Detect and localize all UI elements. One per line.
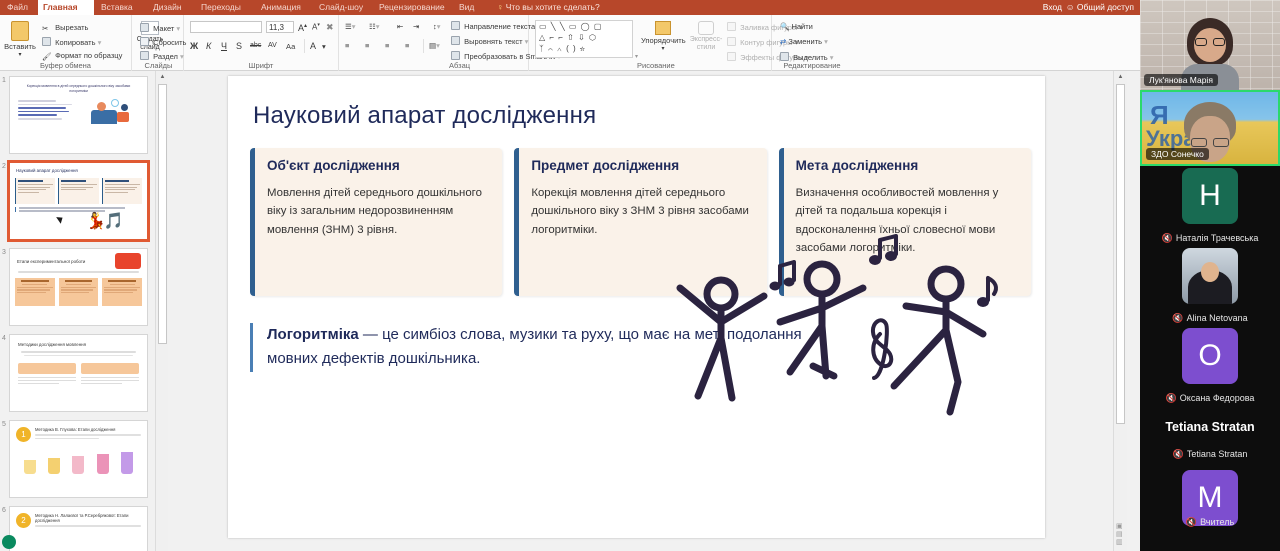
text-shadow-button[interactable]: S	[236, 41, 242, 51]
participant-row: 🔇Вчитель	[1140, 517, 1280, 528]
participant-tile-3[interactable]: Н 🔇Наталія Трачевська	[1140, 166, 1280, 246]
thumbnail-number: 1	[2, 77, 6, 84]
thumbnail-slide-5[interactable]: 5 1 Методика В. Глухова: Етапи досліджен…	[0, 419, 167, 501]
participant-name: Tetiana Stratan	[1187, 449, 1248, 459]
tab-animations[interactable]: Анимация	[256, 0, 308, 15]
shapes-gallery[interactable]: ▭ ╲ ╲ ▭ ◯ ▢ △ ⌐ ⌐ ⇧ ⇩ ⬡ ᛉ ⌒ ∧ ( ) ☆	[535, 20, 633, 58]
scrollbar-bottom-controls[interactable]: ▣▤▥	[1116, 523, 1123, 547]
tab-file[interactable]: Файл	[2, 0, 36, 15]
character-spacing-button[interactable]: AV	[268, 42, 277, 49]
ribbon-tab-bar: Файл Главная Вставка Дизайн Переходы Ани…	[0, 0, 1140, 15]
participant-row: 🔇Alina Netovana	[1140, 313, 1280, 324]
signin-label[interactable]: Вход	[1043, 0, 1062, 15]
thumbnail-quote	[15, 207, 142, 212]
scrollbar-thumb[interactable]	[158, 84, 167, 344]
replace-icon: ⇄	[780, 37, 786, 46]
thumbnail-title: Методики дослідження мовлення	[10, 335, 147, 349]
cut-button[interactable]: ✂ Вырезать	[42, 23, 88, 33]
thumbnail-slide-6[interactable]: 6 2 Методика Н. Лалаєвої та Р.Серебряков…	[0, 505, 167, 551]
justify-button[interactable]: ≡	[405, 41, 409, 50]
ribbon-group-font: 11,3 A▴ A▾ ✖ Ж К Ч S abc AV Аа A ▾ Шрифт	[184, 15, 339, 71]
group-label-slides: Слайды	[133, 61, 184, 70]
powerpoint-window: Файл Главная Вставка Дизайн Переходы Ани…	[0, 0, 1140, 551]
tab-review[interactable]: Рецензирование	[374, 0, 448, 15]
participant-name: Alina Netovana	[1187, 313, 1248, 323]
arrange-icon	[655, 21, 671, 35]
cut-label: Вырезать	[55, 23, 88, 32]
thumbnail-card	[102, 278, 142, 306]
quick-styles-button[interactable]: Экспресс-стили	[687, 21, 725, 52]
bullets-button[interactable]: ☰▾	[345, 22, 356, 31]
quote-term: Логоритміка	[267, 326, 359, 343]
line-spacing-button[interactable]: ↕▾	[433, 22, 441, 31]
text-direction-label: Направление текста	[464, 22, 535, 31]
tell-me-label: Что вы хотите сделать?	[506, 2, 600, 12]
find-label: Найти	[791, 22, 812, 31]
muted-mic-icon: 🔇	[1166, 393, 1177, 403]
copy-button[interactable]: Копировать ▾	[42, 37, 101, 47]
share-button[interactable]: ☺ Общий доступ	[1066, 0, 1134, 15]
ribbon-group-paragraph: ☰▾ ☷▾ ⇤ ⇥ ↕▾ ≡ ≡ ≡ ≡ ▤▾ Направление текс…	[339, 15, 529, 71]
shapes-scroll-icon[interactable]: ▾	[635, 53, 638, 60]
card-heading: Предмет дослідження	[531, 158, 754, 173]
shape-fill-icon	[727, 22, 736, 31]
group-label-editing: Редактирование	[772, 61, 852, 70]
reset-label: Сбросить	[153, 38, 186, 47]
share-label: Общий доступ	[1077, 2, 1134, 12]
bold-button[interactable]: Ж	[190, 41, 198, 51]
slide-scrollbar[interactable]: ▲ ▣▤▥	[1113, 71, 1127, 551]
thumbnail-canvas[interactable]: 1 Методика В. Глухова: Етапи дослідження	[9, 420, 148, 498]
glasses-icon	[1195, 38, 1225, 46]
slide-title: Науковий апарат дослідження	[253, 102, 596, 130]
align-text-button[interactable]: Выровнять текст ▾	[451, 36, 528, 46]
change-case-button[interactable]: Аа	[286, 42, 295, 51]
clear-formatting-button[interactable]: ✖	[326, 22, 334, 33]
thumbnail-canvas[interactable]: Корекція мовлення в дітей середнього дош…	[9, 76, 148, 154]
format-painter-label: Формат по образцу	[55, 51, 122, 60]
thumbnail-card	[15, 278, 55, 306]
thumbnail-canvas[interactable]: Етапи експериментальної роботи	[9, 248, 148, 326]
font-color-button[interactable]: A	[310, 41, 316, 51]
step-number-icon: 2	[16, 513, 31, 528]
thumbnail-cards	[10, 175, 147, 204]
participant-tile-6[interactable]: Tetiana Stratan 🔇Tetiana Stratan	[1140, 406, 1280, 464]
italic-button[interactable]: К	[206, 41, 211, 51]
increase-font-button[interactable]: A▴	[298, 22, 307, 33]
scroll-up-icon[interactable]: ▲	[1116, 73, 1125, 82]
tab-slideshow[interactable]: Слайд-шоу	[314, 0, 368, 15]
copy-icon	[42, 37, 51, 46]
slide-canvas-area: Науковий апарат дослідження Об'єкт дослі…	[169, 71, 1110, 551]
thumbnail-number: 5	[2, 421, 6, 428]
search-icon: 🔍	[780, 22, 789, 31]
thumbnail-card	[58, 178, 98, 204]
thumbnail-dancers-icon: 💃🎵	[86, 211, 122, 231]
group-label-clipboard: Буфер обмена	[0, 61, 131, 70]
copy-label: Копировать	[55, 38, 95, 47]
participant-row: 🔇Наталія Трачевська	[1140, 233, 1280, 244]
card-heading: Об'єкт дослідження	[267, 158, 490, 173]
lightbulb-icon: ♀	[497, 2, 503, 12]
find-button[interactable]: 🔍 Найти	[780, 22, 813, 31]
layout-label: Макет	[153, 24, 174, 33]
shapes-row-3: ᛉ ⌒ ∧ ( ) ☆	[539, 45, 629, 53]
font-color-chevron-down-icon[interactable]: ▾	[322, 42, 326, 51]
thumbnail-number: 4	[2, 335, 6, 342]
thumbnail-badge-icon	[115, 253, 141, 269]
text-direction-icon	[451, 21, 460, 30]
tab-insert[interactable]: Вставка	[96, 0, 142, 15]
align-right-button[interactable]: ≡	[385, 41, 389, 50]
thumbnail-card	[102, 178, 142, 204]
layout-button[interactable]: Макет ▾	[140, 23, 180, 33]
align-left-button[interactable]: ≡	[345, 41, 349, 50]
reset-icon	[140, 37, 149, 46]
font-separator	[304, 39, 305, 53]
shape-outline-icon	[727, 37, 736, 46]
thumbnail-peach-cards	[10, 275, 147, 306]
ribbon-group-editing: 🔍 Найти ⇄ Заменить ▾ Выделить ▾ Редактир…	[772, 15, 852, 71]
shapes-row-2: △ ⌐ ⌐ ⇧ ⇩ ⬡	[539, 34, 629, 42]
thumbnail-number: 6	[2, 507, 6, 514]
dancing-figures-illustration	[658, 226, 1023, 431]
thumbnail-title: Корекція мовлення в дітей середнього дош…	[10, 77, 147, 94]
brush-icon: 🖌	[42, 52, 51, 61]
person-icon: ☺	[1066, 2, 1075, 12]
thumbnail-illustration	[81, 98, 139, 132]
card-heading: Мета дослідження	[796, 158, 1019, 173]
align-text-label: Выровнять текст	[464, 37, 522, 46]
tell-me-box[interactable]: ♀ Что вы хотите сделать?	[492, 0, 622, 15]
thumbnail-canvas-selected[interactable]: Науковий апарат дослідження 💃🎵	[9, 162, 148, 240]
ribbon: Вставить ▾ ✂ Вырезать Копировать ▾ 🖌 Фор…	[0, 15, 1140, 71]
thumbnail-slide-4[interactable]: 4 Методики дослідження мовлення	[0, 333, 167, 415]
thumbnail-canvas[interactable]: Методики дослідження мовлення	[9, 334, 148, 412]
align-text-icon	[451, 36, 460, 45]
tab-home[interactable]: Главная	[38, 0, 94, 15]
participant-row: 🔇Tetiana Stratan	[1140, 449, 1280, 460]
participant-video-tile-2[interactable]: Я Укра ЗДО Сонечко	[1140, 90, 1280, 166]
slide-thumbnail-pane[interactable]: 1 Корекція мовлення в дітей середнього д…	[0, 71, 168, 551]
muted-mic-icon: 🔇	[1186, 517, 1197, 527]
font-name-input[interactable]	[190, 21, 262, 33]
participant-video-tile-1[interactable]: Лук'янова Марія	[1140, 0, 1280, 90]
screen: Файл Главная Вставка Дизайн Переходы Ани…	[0, 0, 1280, 551]
tab-design[interactable]: Дизайн	[148, 0, 190, 15]
participant-name: Наталія Трачевська	[1176, 233, 1258, 243]
group-label-paragraph: Абзац	[339, 61, 528, 70]
smartart-icon	[451, 51, 460, 60]
thumbnail-plants-illustration	[10, 442, 147, 474]
thumbnail-title: Методика В. Глухова: Етапи дослідження	[35, 427, 141, 432]
thumbnail-slide-2[interactable]: 2 Науковий апарат дослідження 💃🎵	[0, 161, 167, 243]
muted-mic-icon: 🔇	[1172, 313, 1183, 323]
underline-button[interactable]: Ч	[221, 41, 227, 51]
thumbnail-canvas[interactable]: 2 Методика Н. Лалаєвої та Р.Серебрякової…	[9, 506, 148, 551]
numbering-button[interactable]: ☷▾	[369, 22, 380, 31]
font-size-input[interactable]: 11,3	[266, 21, 294, 33]
avatar-photo	[1182, 248, 1238, 304]
scrollbar-thumb[interactable]	[1116, 84, 1125, 424]
section-label: Раздел	[153, 52, 178, 61]
thumbnail-card	[59, 278, 99, 306]
group-label-drawing: Рисование	[529, 61, 771, 70]
thumbnail-scrollbar[interactable]: ▲	[155, 71, 168, 551]
layout-icon	[140, 23, 149, 32]
ribbon-group-clipboard: Вставить ▾ ✂ Вырезать Копировать ▾ 🖌 Фор…	[0, 15, 132, 71]
group-label-font: Шрифт	[184, 61, 338, 70]
card-body: Мовлення дітей середнього дошкільного ві…	[267, 184, 490, 239]
current-slide[interactable]: Науковий апарат дослідження Об'єкт дослі…	[228, 76, 1045, 538]
participant-tile-7[interactable]: М 🔇Вчитель	[1140, 464, 1280, 528]
paste-label: Вставить	[4, 42, 36, 51]
tab-view[interactable]: Вид	[454, 0, 484, 15]
scissors-icon: ✂	[42, 24, 51, 33]
thumbnail-slide-3[interactable]: 3 Етапи експериментальної роботи	[0, 247, 167, 329]
thumbnail-title: Методика Н. Лалаєвої та Р.Серебрякової: …	[35, 513, 141, 523]
muted-mic-icon: 🔇	[1162, 233, 1173, 243]
notification-badge	[2, 535, 16, 549]
arrange-button[interactable]: Упорядочить ▾	[641, 21, 685, 52]
card-object[interactable]: Об'єкт дослідження Мовлення дітей середн…	[250, 148, 502, 296]
participant-name: Лук'янова Марія	[1144, 74, 1218, 86]
thumbnail-title: Науковий апарат дослідження	[10, 163, 147, 175]
participant-display-name: Tetiana Stratan	[1140, 420, 1280, 434]
columns-button[interactable]: ▤▾	[429, 41, 440, 50]
shape-effects-icon	[727, 52, 736, 61]
zoom-participant-panel: Лук'янова Марія Я Укра ЗДО Сонечко Н 🔇На…	[1140, 0, 1280, 551]
format-painter-button[interactable]: 🖌 Формат по образцу	[42, 51, 122, 61]
text-direction-button[interactable]: Направление текста ▾	[451, 21, 541, 31]
select-icon	[780, 52, 789, 61]
reset-button[interactable]: Сбросить	[140, 37, 186, 47]
participant-name: ЗДО Сонечко	[1146, 148, 1209, 160]
replace-button[interactable]: ⇄ Заменить ▾	[780, 37, 828, 46]
paste-icon	[11, 21, 29, 41]
increase-indent-button[interactable]: ⇥	[413, 22, 419, 31]
decrease-indent-button[interactable]: ⇤	[397, 22, 403, 31]
thumbnail-number: 2	[2, 163, 6, 170]
align-center-button[interactable]: ≡	[365, 41, 369, 50]
participant-row: 🔇Оксана Федорова	[1140, 393, 1280, 404]
arrange-label: Упорядочить	[641, 36, 686, 45]
avatar-initial: О	[1182, 328, 1238, 384]
paste-button[interactable]: Вставить ▾	[3, 21, 37, 58]
quick-styles-icon	[698, 21, 714, 35]
paragraph-separator	[423, 39, 424, 53]
thumbnail-number: 3	[2, 249, 6, 256]
decrease-font-button[interactable]: A▾	[312, 22, 320, 32]
replace-label: Заменить	[788, 37, 822, 46]
thumbnail-slide-1[interactable]: 1 Корекція мовлення в дітей середнього д…	[0, 75, 167, 157]
step-number-icon: 1	[16, 427, 31, 442]
participant-tile-5[interactable]: О 🔇Оксана Федорова	[1140, 326, 1280, 406]
thumbnail-card	[15, 178, 55, 204]
thumbnail-title: Етапи експериментальної роботи	[10, 253, 115, 266]
participant-tile-4[interactable]: 🔇Alina Netovana	[1140, 246, 1280, 326]
section-button[interactable]: Раздел ▾	[140, 51, 184, 61]
participant-name: Вчитель	[1200, 517, 1234, 527]
avatar-initial: Н	[1182, 168, 1238, 224]
ribbon-group-drawing: ▭ ╲ ╲ ▭ ◯ ▢ △ ⌐ ⌐ ⇧ ⇩ ⬡ ᛉ ⌒ ∧ ( ) ☆ ▾ Уп…	[529, 15, 772, 71]
participant-name: Оксана Федорова	[1180, 393, 1255, 403]
mouse-cursor	[56, 214, 65, 223]
glasses-icon	[1191, 138, 1229, 147]
quick-styles-label: Экспресс-стили	[687, 36, 725, 52]
shapes-row-1: ▭ ╲ ╲ ▭ ◯ ▢	[539, 23, 629, 31]
section-icon	[140, 51, 149, 60]
scroll-up-icon[interactable]: ▲	[158, 73, 167, 82]
muted-mic-icon: 🔇	[1173, 449, 1184, 459]
strikethrough-button[interactable]: abc	[250, 42, 261, 49]
tab-transitions[interactable]: Переходы	[196, 0, 250, 15]
